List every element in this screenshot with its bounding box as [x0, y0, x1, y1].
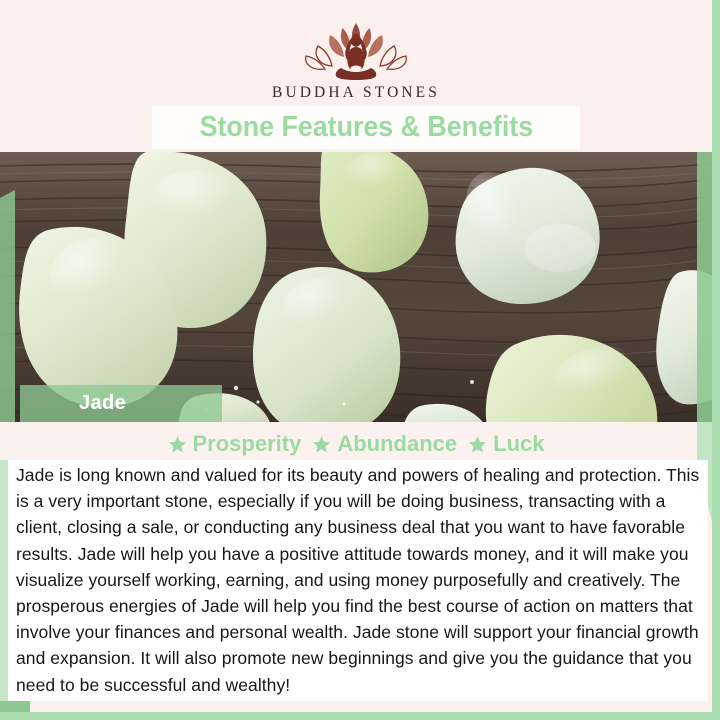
- jade-stones-illustration: [0, 152, 712, 422]
- brand-name: BUDDHA STONES: [272, 84, 440, 102]
- benefit-label-prosperity: Prosperity: [193, 431, 302, 457]
- page-title: Stone Features & Benefits: [199, 111, 532, 144]
- jade-stones-photo: [0, 152, 712, 422]
- decor-strip-left-body: [0, 460, 8, 701]
- decor-frame-right: [712, 0, 720, 720]
- star-icon: [312, 435, 331, 454]
- benefit-item-abundance: Abundance: [312, 431, 457, 457]
- stone-name-label: Jade: [79, 392, 126, 415]
- benefit-item-luck: Luck: [468, 431, 544, 457]
- benefit-label-abundance: Abundance: [337, 431, 457, 457]
- star-icon: [168, 435, 187, 454]
- decor-accent-right: [697, 152, 712, 422]
- benefit-item-prosperity: Prosperity: [168, 431, 302, 457]
- description-panel: Jade is long known and valued for its be…: [8, 460, 708, 701]
- decor-accent-left: [0, 190, 15, 422]
- benefits-row: Prosperity Abundance Luck: [0, 428, 712, 460]
- star-icon: [468, 435, 487, 454]
- lotus-meditation-icon: [295, 18, 417, 80]
- benefit-label-luck: Luck: [493, 431, 544, 457]
- stone-features-poster: BUDDHA STONES Stone Features & Benefits: [0, 0, 720, 720]
- decor-frame-bottom: [0, 712, 720, 720]
- title-banner: Stone Features & Benefits: [152, 106, 580, 149]
- brand-logo: BUDDHA STONES: [0, 18, 712, 102]
- stone-name-badge: Jade: [20, 385, 222, 422]
- description-text: Jade is long known and valued for its be…: [16, 462, 701, 698]
